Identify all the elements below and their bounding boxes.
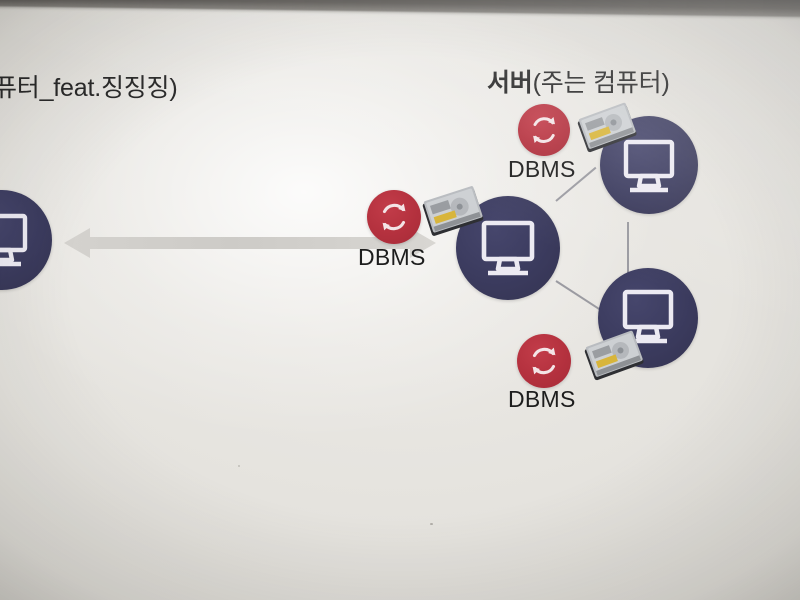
dust-speck (238, 465, 240, 467)
server-label-paren: (주는 컴퓨터) (533, 69, 670, 97)
dbms-label-top: DBMS (508, 156, 576, 183)
sync-refresh-icon (518, 104, 570, 156)
dbms-label-bottom: DBMS (508, 386, 576, 413)
slide-photo-canvas: 퓨터_feat.징징징) 서버(주는 컴퓨터) (0, 0, 800, 600)
dbms-badge-bottom[interactable] (517, 334, 571, 388)
dbms-badge-center[interactable] (367, 190, 421, 244)
dust-speck (648, 12, 650, 15)
client-computer-disc[interactable] (0, 190, 52, 290)
dbms-badge-top[interactable] (518, 104, 570, 156)
server-label-bold: 서버 (487, 69, 533, 97)
right-title-text: 서버(주는 컴퓨터) (487, 63, 670, 99)
left-title-text: 퓨터_feat.징징징) (0, 68, 177, 104)
dbms-label-center: DBMS (358, 244, 426, 271)
desktop-computer-icon (0, 190, 52, 290)
connector-center-to-bottom-right (555, 280, 600, 310)
sync-refresh-icon (367, 190, 421, 244)
dust-speck (430, 523, 433, 525)
sync-refresh-icon (517, 334, 571, 388)
